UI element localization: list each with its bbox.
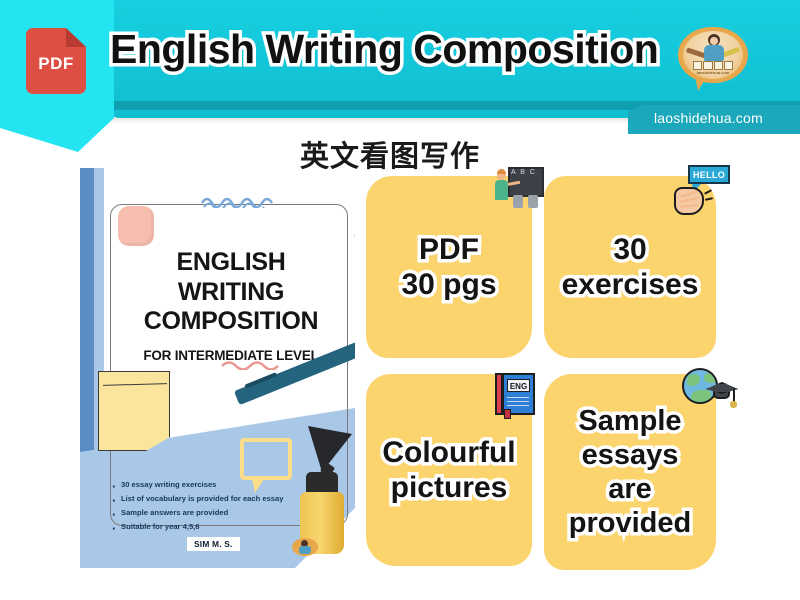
feature-card-pictures-line-2: pictures — [382, 470, 515, 505]
graduation-cap-tassel — [733, 388, 735, 402]
book-icon-page-line — [507, 405, 529, 406]
website-url-ribbon[interactable]: laoshidehua.com — [628, 105, 800, 134]
globe-graduation-cap-icon — [682, 368, 738, 414]
list-item: 30 essay writing exercises — [110, 478, 340, 492]
logo-teacher-torso — [704, 45, 724, 61]
logo-character-tiles — [693, 61, 733, 70]
list-item: Suitable for year 4,5,6 — [110, 520, 340, 534]
book-cover-mini-logo-icon — [292, 538, 318, 562]
page-title: English Writing Composition — [110, 26, 658, 73]
student-desk — [513, 195, 523, 208]
logo-tile — [703, 61, 712, 70]
pdf-icon-label: PDF — [26, 54, 86, 74]
speech-bubble-icon — [240, 438, 292, 480]
globe-landmass — [704, 373, 716, 383]
feature-card-pdf-line-2: 30 pgs — [401, 267, 496, 302]
feature-card-exercises-text: 30 exercises — [554, 232, 707, 303]
book-icon-label: ENG — [508, 382, 529, 391]
waving-hand-palm — [674, 187, 704, 215]
blackboard-abc-label: A B C — [511, 169, 536, 176]
book-title-line-1: ENGLISH — [112, 248, 350, 278]
feature-card-essays-line-2: essays — [569, 438, 691, 472]
book-feature-list: 30 essay writing exercises List of vocab… — [110, 478, 340, 534]
feature-card-exercises-line-1: 30 — [562, 232, 699, 267]
book-icon-page-line — [507, 401, 529, 402]
feature-card-pictures-text: Colourful pictures — [374, 435, 523, 506]
book-icon-label-plate: ENG — [507, 379, 530, 392]
feature-card-pdf-text: PDF 30 pgs — [393, 232, 504, 303]
teacher-blackboard-icon: A B C — [494, 167, 544, 209]
logo-inner-art: laoshidehua.com — [683, 31, 743, 79]
mini-logo-torso — [299, 546, 311, 554]
blue-squiggle-icon — [200, 194, 280, 208]
globe-landmass — [691, 390, 711, 403]
website-url-label: laoshidehua.com — [654, 110, 763, 126]
logo-inner-url: laoshidehua.com — [683, 70, 743, 75]
feature-card-essays-line-3: are — [569, 472, 691, 506]
teacher-hair — [497, 169, 506, 174]
yellow-sticky-note-icon — [98, 371, 170, 451]
pdf-file-icon: PDF — [26, 28, 86, 94]
feature-card-essays-line-1: Sample — [569, 404, 691, 438]
hand-motion-line — [705, 197, 713, 201]
logo-tile — [693, 61, 702, 70]
pen-tip — [354, 342, 355, 355]
hello-bubble: HELLO — [688, 165, 730, 184]
feature-card-pictures-line-1: Colourful — [382, 435, 515, 470]
teacher-speech-bubble-logo[interactable]: laoshidehua.com — [678, 27, 748, 91]
hello-bubble-label: HELLO — [690, 170, 728, 180]
sticky-note-crease — [103, 383, 167, 386]
list-item: List of vocabulary is provided for each … — [110, 492, 340, 506]
book-cover-image: ENGLISH WRITING COMPOSITION FOR INTERMED… — [80, 168, 355, 568]
logo-teacher-face — [710, 37, 718, 45]
logo-tile — [724, 61, 733, 70]
book-title: ENGLISH WRITING COMPOSITION — [112, 248, 350, 337]
feature-card-essays-text: Sample essays are provided — [561, 404, 699, 541]
feature-card-essays-line-4: provided — [569, 506, 691, 540]
globe-landmass — [687, 374, 700, 386]
book-author-name: SIM M. S. — [187, 537, 240, 551]
english-dictionary-book-icon: ENG — [495, 373, 535, 415]
feature-card-exercises-line-2: exercises — [562, 267, 699, 302]
teacher-body — [495, 180, 508, 200]
graduation-cap-tassel-end — [730, 401, 737, 408]
book-icon-bookmark — [504, 409, 511, 419]
pdf-icon-folded-corner — [66, 28, 86, 47]
hand-motion-line — [704, 189, 712, 195]
student-desk — [528, 195, 538, 208]
book-icon-page-line — [507, 397, 529, 398]
pink-sticky-note-icon — [118, 206, 154, 246]
speech-bubble-box — [240, 438, 292, 480]
logo-tile — [714, 61, 723, 70]
book-title-line-3: COMPOSITION — [112, 307, 350, 337]
globe-sphere — [682, 368, 718, 404]
waving-hand-hello-icon: HELLO — [672, 165, 730, 217]
chinese-subtitle: 英文看图写作 — [300, 133, 480, 175]
list-item: Sample answers are provided — [110, 506, 340, 520]
feature-card-pdf-line-1: PDF — [401, 232, 496, 267]
book-title-line-2: WRITING — [112, 278, 350, 308]
